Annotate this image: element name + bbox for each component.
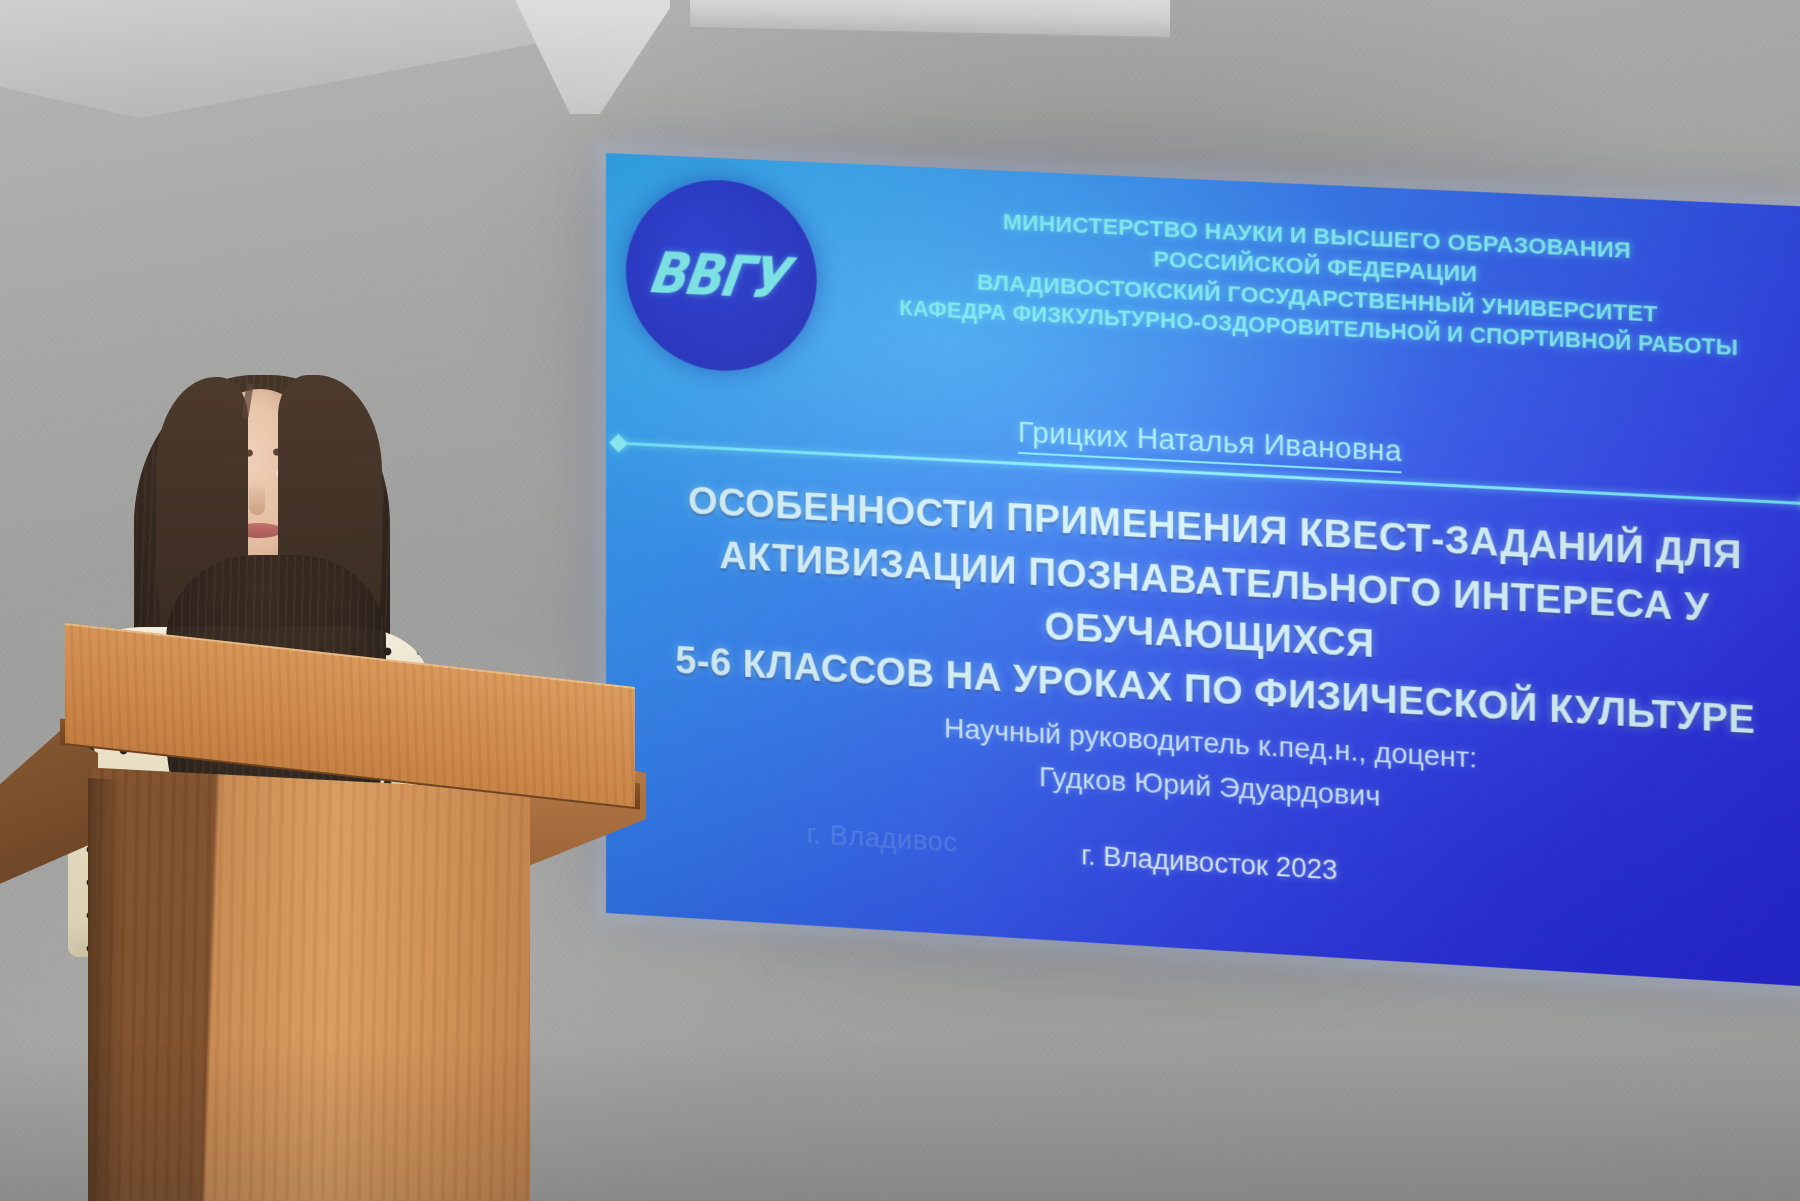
podium-left-face bbox=[0, 731, 98, 937]
presentation-photo-scene: ВВГУ МИНИСТЕРСТВО НАУКИ И ВЫСШЕГО ОБРАЗО… bbox=[0, 0, 1800, 1201]
projection-screen: ВВГУ МИНИСТЕРСТВО НАУКИ И ВЫСШЕГО ОБРАЗО… bbox=[606, 153, 1800, 988]
ministry-header: МИНИСТЕРСТВО НАУКИ И ВЫСШЕГО ОБРАЗОВАНИЯ… bbox=[847, 200, 1792, 366]
presentation-slide: ВВГУ МИНИСТЕРСТВО НАУКИ И ВЫСШЕГО ОБРАЗО… bbox=[606, 153, 1800, 988]
author-name: Грицких Наталья Ивановна bbox=[606, 396, 1800, 491]
vvgu-logo: ВВГУ bbox=[626, 176, 817, 375]
nose bbox=[249, 481, 265, 515]
vvgu-logo-text: ВВГУ bbox=[647, 239, 796, 311]
floor-shadow bbox=[0, 1041, 1800, 1201]
